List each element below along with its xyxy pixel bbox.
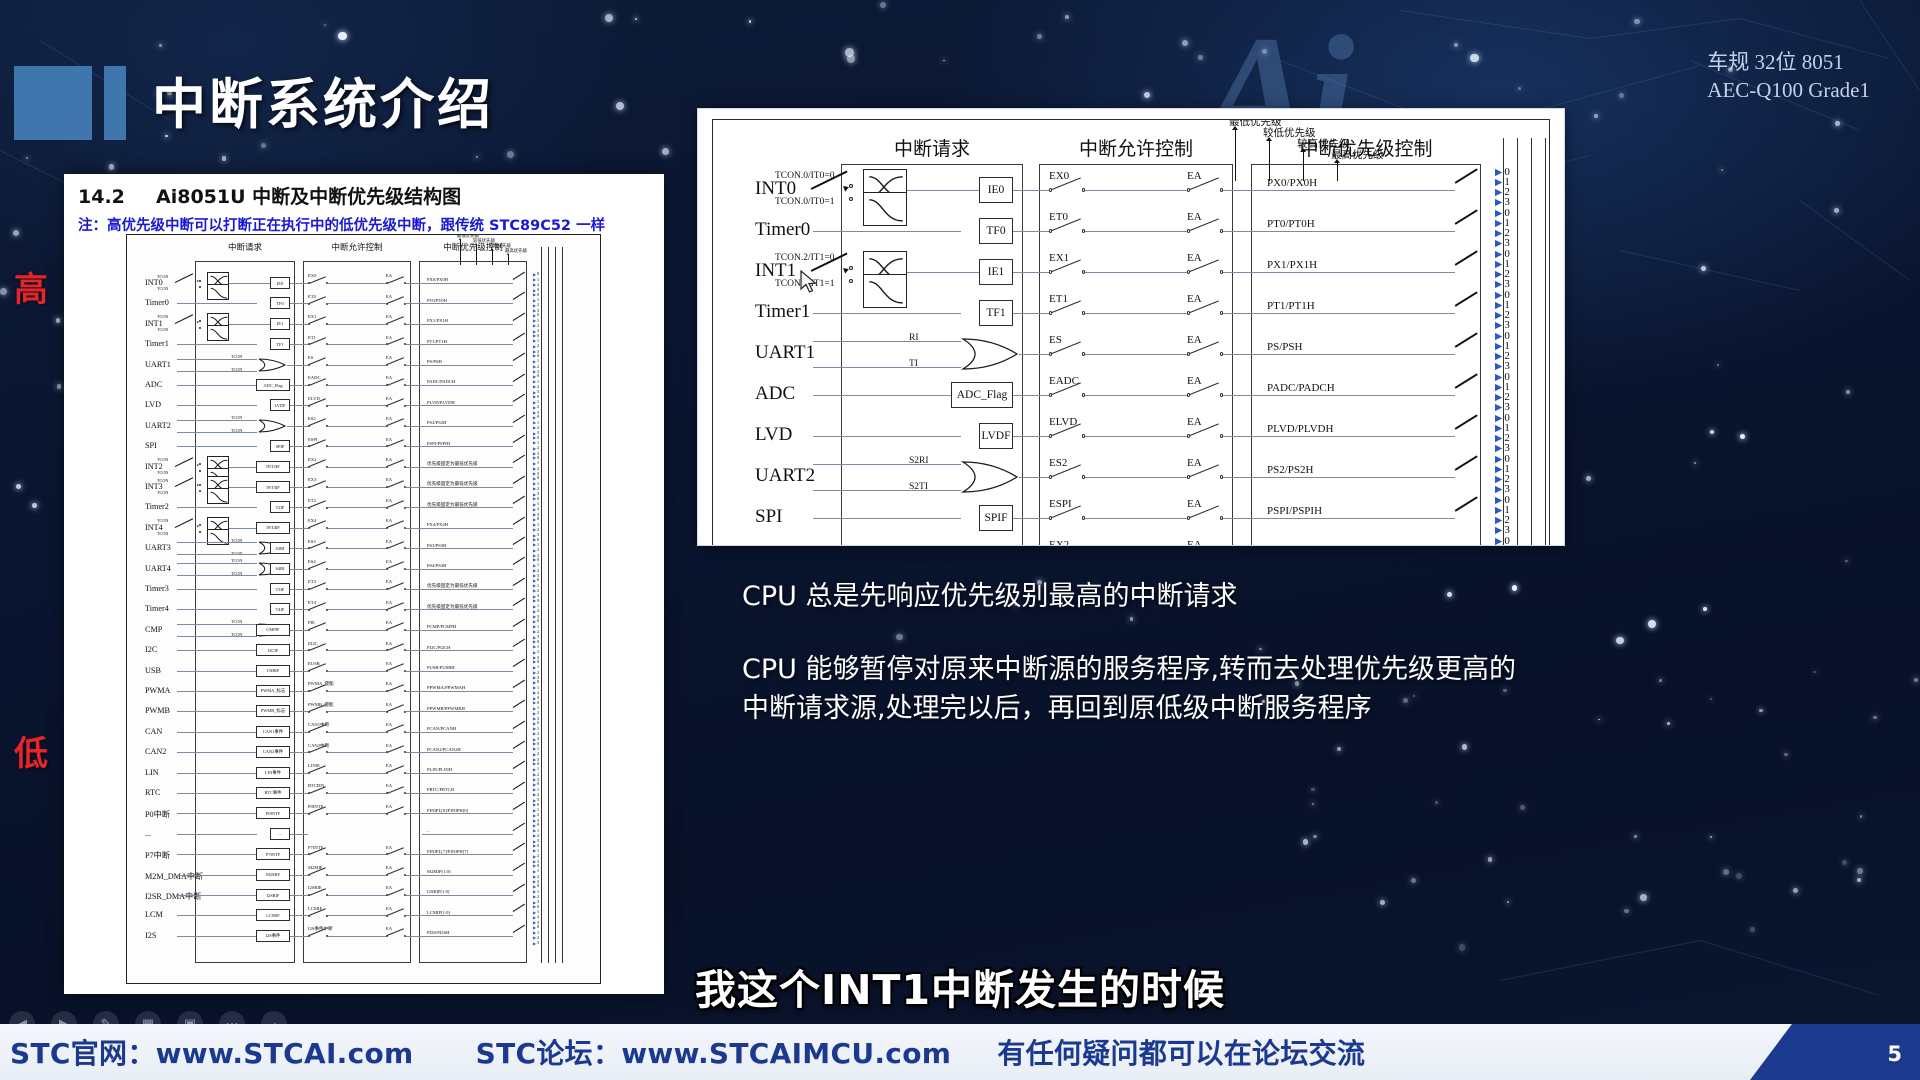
enable-switch-label-31: I2SRIE xyxy=(308,885,322,890)
falling-edge-symbol-3 xyxy=(863,274,907,308)
mux-level-label-30-2: 1 xyxy=(537,868,539,873)
enable-chain-wire-1 xyxy=(328,283,386,284)
column-title-1: 中断请求 xyxy=(894,134,970,161)
mux-level-label-1-2: 1 xyxy=(537,277,539,282)
mux-arrow-8-1: ▶ xyxy=(533,415,536,420)
ea-switch-4[interactable]: EA xyxy=(1187,305,1223,321)
decor-star xyxy=(1619,93,1624,98)
priority-wire-32 xyxy=(422,915,513,916)
enable-switch-3[interactable]: EX1 xyxy=(308,319,328,328)
flag-box-9: SPIF xyxy=(979,505,1013,531)
flag-output-wire-7 xyxy=(290,405,308,406)
flag-box-19: I2CIF xyxy=(256,644,290,656)
brand-line-2: AEC-Q100 Grade1 xyxy=(1707,76,1870,104)
source-label-7: LVD xyxy=(755,424,792,446)
ea-switch-11[interactable]: EA xyxy=(386,483,406,492)
priority-wire-16 xyxy=(422,589,513,590)
ea-switch-2[interactable]: EA xyxy=(386,299,406,308)
mux-arrow-24-1: ▶ xyxy=(533,741,536,746)
enable-switch-label-1: EX0 xyxy=(1049,170,1069,182)
source-wire-29 xyxy=(177,854,257,855)
ea-switch-label-27: EA xyxy=(386,804,392,809)
enable-switch-label-3: EX1 xyxy=(1049,252,1069,264)
decor-star xyxy=(1873,716,1876,719)
ea-switch-30[interactable]: EA xyxy=(386,870,406,879)
enable-switch-5[interactable]: ES xyxy=(308,360,328,369)
enable-switch-6[interactable]: EADC xyxy=(1049,387,1085,403)
decor-star xyxy=(1710,836,1712,838)
mux-level-label-4-1: 0 xyxy=(537,333,539,338)
ea-switch-32[interactable]: EA xyxy=(386,911,406,920)
flag-box-24: CAN2事件 xyxy=(256,746,290,758)
mux-level-label-31-1: 0 xyxy=(537,883,539,888)
ea-switch-13[interactable]: EA xyxy=(386,523,406,532)
mux-level-label-5-2: 1 xyxy=(537,358,539,363)
enable-chain-wire-19 xyxy=(328,650,386,651)
decor-star xyxy=(0,288,7,295)
ea-switch-7[interactable]: EA xyxy=(1187,428,1223,444)
ea-switch-29[interactable]: EA xyxy=(386,850,406,859)
selector-node-high-3 xyxy=(849,266,853,270)
enable-switch-label-17: ET4 xyxy=(308,600,316,605)
video-subtitle: 我这个INT1中断发生的时候 xyxy=(0,956,1920,1016)
enable-to-priority-wire-23 xyxy=(406,732,422,733)
ea-switch-7[interactable]: EA xyxy=(386,401,406,410)
ea-switch-5[interactable]: EA xyxy=(1187,346,1223,362)
mux-arrow-15-3: ▶ xyxy=(533,568,536,573)
enable-switch-4[interactable]: ET1 xyxy=(1049,305,1085,321)
decor-line xyxy=(1590,18,1740,39)
condition-label-low-1: TCON xyxy=(157,286,168,291)
ea-switch-2[interactable]: EA xyxy=(1187,223,1223,239)
ea-switch-1[interactable]: EA xyxy=(386,279,406,288)
mux-arrow-9-4: ▶ xyxy=(1495,525,1502,536)
decor-star xyxy=(1857,878,1861,882)
flag-box-31: I2SRIF xyxy=(256,889,290,901)
enable-to-priority-wire-32 xyxy=(406,915,422,916)
priority-bit-label-4: PT1/PT1H xyxy=(1267,300,1315,312)
ea-switch-label-6: EA xyxy=(1187,375,1202,387)
enable-switch-19[interactable]: EI2C xyxy=(308,646,328,655)
falling-edge-symbol-1 xyxy=(207,284,229,300)
enable-switch-10[interactable]: EX2 xyxy=(308,462,328,471)
ea-switch-9[interactable]: EA xyxy=(1187,510,1223,526)
enable-switch-5[interactable]: ES xyxy=(1049,346,1085,362)
enable-switch-29[interactable]: P7INTE xyxy=(308,850,328,859)
mux-arrow-10-1: ▶ xyxy=(533,455,536,460)
ea-switch-24[interactable]: EA xyxy=(386,748,406,757)
ea-switch-33[interactable]: EA xyxy=(386,931,406,940)
mux-arrow-6-3: ▶ xyxy=(533,384,536,389)
priority-rail-2 xyxy=(1517,138,1518,546)
ea-switch-1[interactable]: EA xyxy=(1187,182,1223,198)
flag-box-11: INT3IF xyxy=(256,481,290,493)
flag-box-4: TF1 xyxy=(270,338,290,350)
flag-output-wire-20 xyxy=(290,671,308,672)
source-wire-30 xyxy=(177,875,257,876)
ea-switch-6[interactable]: EA xyxy=(1187,387,1223,403)
mux-level-label-33-3: 2 xyxy=(537,935,539,940)
or-input-wire-a-5 xyxy=(813,341,961,342)
source-wire-24 xyxy=(177,752,257,753)
source-wire-32 xyxy=(177,915,257,916)
mux-level-label-18-1: 0 xyxy=(537,618,539,623)
enable-switch-31[interactable]: I2SRIE xyxy=(308,891,328,900)
enable-to-priority-wire-20 xyxy=(406,671,422,672)
decor-star xyxy=(1842,860,1847,865)
enable-to-priority-wire-6 xyxy=(406,385,422,386)
ea-switch-label-32: EA xyxy=(386,906,392,911)
mux-level-label-17-3: 2 xyxy=(537,608,539,613)
decor-star xyxy=(1736,873,1742,879)
enable-switch-9[interactable]: ESPI xyxy=(308,442,328,451)
mux-level-label-15-1: 0 xyxy=(537,557,539,562)
enable-switch-label-14: ES3 xyxy=(308,539,316,544)
mux-arrow-12-1: ▶ xyxy=(533,496,536,501)
enable-switch-label-13: EX4 xyxy=(308,518,316,523)
flag-output-wire-21 xyxy=(290,691,308,692)
mux-level-label-22-3: 2 xyxy=(537,710,539,715)
flag-output-wire-28 xyxy=(290,834,308,835)
enable-switch-32[interactable]: LCMIE xyxy=(308,911,328,920)
ea-switch-label-8: EA xyxy=(1187,457,1202,469)
flag-input-wire-3 xyxy=(907,272,979,273)
flag-input-wire-13 xyxy=(229,528,256,529)
priority-bit-label-8: PS2/PS2H xyxy=(1267,464,1313,476)
enable-chain-wire-2 xyxy=(1085,231,1187,232)
flag-output-wire-3 xyxy=(290,324,308,325)
mux-level-label-29-3: 2 xyxy=(537,853,539,858)
decor-star xyxy=(1759,709,1762,712)
decor-star xyxy=(1813,671,1815,673)
priority-wire-31 xyxy=(422,895,513,896)
priority-bit-label-26: PRTC/PRTCH xyxy=(427,787,454,792)
mux-level-label-4-2: 1 xyxy=(537,338,539,343)
enable-switch-label-4: ET1 xyxy=(308,335,316,340)
priority-wire-11 xyxy=(422,487,513,488)
mux-arrow-8-4: ▶ xyxy=(1495,484,1502,495)
mux-arrow-11-3: ▶ xyxy=(533,486,536,491)
enable-switch-11[interactable]: EX3 xyxy=(308,483,328,492)
enable-switch-4[interactable]: ET1 xyxy=(308,340,328,349)
mux-arrow-20-1: ▶ xyxy=(533,659,536,664)
flag-output-wire-24 xyxy=(290,752,308,753)
footer-text: STC官网：www.STCAI.com STC论坛：www.STCAIMCU.c… xyxy=(10,1032,1365,1072)
priority-bit-label-23: PCAN/PCANH xyxy=(427,726,456,731)
source-label-4: Timer1 xyxy=(755,301,810,323)
enable-chain-wire-30 xyxy=(328,875,386,876)
mux-arrow-16-1: ▶ xyxy=(533,578,536,583)
ea-switch-9[interactable]: EA xyxy=(386,442,406,451)
enable-switch-24[interactable]: CAN2中断 xyxy=(308,748,328,757)
decor-star xyxy=(32,503,37,508)
ea-switch-16[interactable]: EA xyxy=(386,585,406,594)
decor-star xyxy=(1710,430,1714,434)
mux-level-label-3-3: 2 xyxy=(537,323,539,328)
enable-chain-wire-7 xyxy=(328,405,386,406)
ea-switch-3[interactable]: EA xyxy=(386,319,406,328)
source-label-2: Timer0 xyxy=(755,219,810,241)
or-gate-5 xyxy=(257,357,287,373)
flag-box-12: T2IF xyxy=(270,501,290,513)
enable-switch-6[interactable]: EADC xyxy=(308,381,328,390)
mux-arrow-1-3: ▶ xyxy=(533,282,536,287)
enable-switch-13[interactable]: EX4 xyxy=(308,523,328,532)
enable-switch-16[interactable]: ET3 xyxy=(308,585,328,594)
mux-level-label-22-1: 0 xyxy=(537,700,539,705)
mux-level-label-31-3: 2 xyxy=(537,894,539,899)
enable-switch-18[interactable]: PIE xyxy=(308,625,328,634)
ea-switch-5[interactable]: EA xyxy=(386,360,406,369)
flag-output-wire-2 xyxy=(1013,231,1049,232)
source-label-16: Timer3 xyxy=(145,584,169,593)
enable-switch-label-25: LINIE xyxy=(308,763,320,768)
mux-arrow-17-2: ▶ xyxy=(533,604,536,609)
flag-input-wire-11 xyxy=(229,487,256,488)
or-input-wire-b-18 xyxy=(177,636,257,637)
ea-switch-label-2: EA xyxy=(1187,211,1202,223)
ea-switch-18[interactable]: EA xyxy=(386,625,406,634)
or-input-wire-a-15 xyxy=(177,563,257,564)
mux-level-label-7-1: 0 xyxy=(537,394,539,399)
flag-output-wire-17 xyxy=(290,609,308,610)
flag-box-2: TF0 xyxy=(270,297,290,309)
body-text-block: CPU 总是先响应优先级别最高的中断请求 CPU 能够暂停对原来中断源的服务程序… xyxy=(742,578,1752,729)
priority-arrowhead-1 xyxy=(1232,126,1238,130)
right-document-panel: 中断请求中断允许控制中断优先级控制最低优先级较低优先级较高优先级最高优先级INT… xyxy=(697,108,1565,546)
or-gate-8 xyxy=(257,418,287,434)
priority-bit-label-25: PLIN/PLINH xyxy=(427,767,452,772)
enable-switch-2[interactable]: ET0 xyxy=(308,299,328,308)
enable-switch-14[interactable]: ES3 xyxy=(308,544,328,553)
enable-switch-7[interactable]: ELVD xyxy=(1049,428,1085,444)
ea-switch-4[interactable]: EA xyxy=(386,340,406,349)
enable-switch-20[interactable]: EUSB xyxy=(308,666,328,675)
or-input-wire-b-5 xyxy=(813,367,961,368)
source-label-12: Timer2 xyxy=(145,502,169,511)
ea-switch-8[interactable]: EA xyxy=(386,421,406,430)
mux-level-label-6-3: 2 xyxy=(537,384,539,389)
flag-input-wire-10 xyxy=(229,467,256,468)
enable-switch-label-16: ET3 xyxy=(308,579,316,584)
ea-switch-14[interactable]: EA xyxy=(386,544,406,553)
enable-switch-7[interactable]: ELVD xyxy=(308,401,328,410)
flag-box-28: ... xyxy=(270,828,290,840)
source-label-5: UART1 xyxy=(145,360,171,369)
enable-switch-27[interactable]: P0INTE xyxy=(308,809,328,818)
ea-switch-15[interactable]: EA xyxy=(386,564,406,573)
mux-level-label-24-3: 2 xyxy=(537,751,539,756)
enable-switch-1[interactable]: EX0 xyxy=(1049,182,1085,198)
ea-switch-26[interactable]: EA xyxy=(386,789,406,798)
flag-box-33: I2S事件 xyxy=(256,930,290,942)
decor-star xyxy=(56,318,61,323)
enable-switch-33[interactable]: I2S事件中断 xyxy=(308,931,328,940)
or-input-wire-b-8 xyxy=(813,490,961,491)
enable-to-priority-wire-31 xyxy=(406,895,422,896)
ea-switch-20[interactable]: EA xyxy=(386,666,406,675)
or-to-enable-wire-8 xyxy=(295,426,308,427)
enable-to-priority-wire-13 xyxy=(406,528,422,529)
priority-wire-12 xyxy=(422,507,513,508)
decor-star xyxy=(338,32,346,40)
mux-arrow-24-3: ▶ xyxy=(533,752,536,757)
mux-arrow-25-2: ▶ xyxy=(533,767,536,772)
enable-switch-12[interactable]: ET2 xyxy=(308,503,328,512)
enable-chain-wire-6 xyxy=(1085,395,1187,396)
mux-arrow-26-1: ▶ xyxy=(533,782,536,787)
flag-output-wire-2 xyxy=(290,303,308,304)
priority-wire-9 xyxy=(1257,518,1455,519)
enable-switch-26[interactable]: RTCIEN xyxy=(308,789,328,798)
enable-switch-8[interactable]: ES2 xyxy=(308,421,328,430)
mux-level-label-6-1: 0 xyxy=(537,373,539,378)
source-wire-12 xyxy=(177,507,257,508)
flag-output-wire-31 xyxy=(290,895,308,896)
mux-level-label-15-3: 2 xyxy=(537,568,539,573)
enable-to-priority-wire-8 xyxy=(406,426,422,427)
priority-bit-label-8: PS2/PS2H xyxy=(427,420,446,425)
enable-chain-wire-21 xyxy=(328,691,386,692)
mux-level-label-8-1: 0 xyxy=(537,414,539,419)
selector-node-high-1 xyxy=(849,184,853,188)
trigger-selector-arrowhead-10 xyxy=(196,463,199,466)
mux-arrow-7-2: ▶ xyxy=(533,400,536,405)
priority-arrowhead-3 xyxy=(1300,148,1306,152)
enable-switch-3[interactable]: EX1 xyxy=(1049,264,1085,280)
mux-level-label-16-3: 2 xyxy=(537,588,539,593)
enable-switch-23[interactable]: CAN1中断 xyxy=(308,727,328,736)
enable-switch-21[interactable]: PWMA_使能 xyxy=(308,687,328,696)
mux-arrow-20-3: ▶ xyxy=(533,670,536,675)
mux-arrow-5-4: ▶ xyxy=(1495,361,1502,372)
ea-switch-22[interactable]: EA xyxy=(386,707,406,716)
flag-box-20: USBIF xyxy=(256,665,290,677)
flag-box-13: INT4IF xyxy=(256,522,290,534)
ea-switch-31[interactable]: EA xyxy=(386,891,406,900)
source-label-5: UART1 xyxy=(755,342,815,364)
decor-star xyxy=(1182,40,1188,46)
priority-rail-4 xyxy=(1545,138,1546,546)
enable-switch-label-6: EADC xyxy=(1049,375,1079,387)
enable-switch-label-8: ES2 xyxy=(308,416,316,421)
enable-to-priority-wire-7 xyxy=(406,405,422,406)
ea-switch-8[interactable]: EA xyxy=(1187,469,1223,485)
ea-switch-label-25: EA xyxy=(386,763,392,768)
mux-level-label-33-1: 0 xyxy=(537,924,539,929)
mux-level-label-28-3: 2 xyxy=(537,833,539,838)
ea-switch-21[interactable]: EA xyxy=(386,687,406,696)
priority-rail-3 xyxy=(1531,138,1532,546)
ea-switch-label-20: EA xyxy=(386,661,392,666)
enable-to-priority-wire-6 xyxy=(1223,395,1257,396)
flag-box-22: PWMB_标志 xyxy=(256,705,290,717)
enable-chain-wire-11 xyxy=(328,487,386,488)
decor-star xyxy=(880,2,886,8)
priority-high-marker: 高 xyxy=(14,262,48,311)
priority-wire-24 xyxy=(422,752,513,753)
mux-level-label-30-3: 2 xyxy=(537,874,539,879)
priority-arrow-4 xyxy=(1337,160,1338,181)
priority-bit-label-7: PLVD/PLVDH xyxy=(427,400,455,405)
enable-switch-label-8: ES2 xyxy=(1049,457,1067,469)
source-wire-23 xyxy=(177,732,257,733)
ea-switch-label-21: EA xyxy=(386,681,392,686)
enable-chain-wire-15 xyxy=(328,569,386,570)
priority-arrowhead-2 xyxy=(1266,137,1272,141)
priority-bit-label-15: PS4/PS4H xyxy=(427,563,446,568)
decor-star xyxy=(1845,560,1848,563)
priority-wire-29 xyxy=(422,854,513,855)
flag-output-wire-27 xyxy=(290,813,308,814)
enable-to-priority-wire-1 xyxy=(1223,190,1257,191)
priority-wire-19 xyxy=(422,650,513,651)
flag-output-wire-11 xyxy=(290,487,308,488)
mux-arrow-8-2: ▶ xyxy=(533,420,536,425)
enable-to-priority-wire-8 xyxy=(1223,477,1257,478)
mux-arrow-33-4: ▶ xyxy=(533,941,536,946)
ea-switch-10[interactable]: EA xyxy=(386,462,406,471)
mux-level-label-18-2: 1 xyxy=(537,624,539,629)
mux-level-label-32-1: 0 xyxy=(537,904,539,909)
brand-tagline: 车规 32位 8051 AEC-Q100 Grade1 xyxy=(1707,48,1870,105)
source-label-8: UART2 xyxy=(755,465,815,487)
enable-switch-9[interactable]: ESPI xyxy=(1049,510,1085,526)
ea-switch-3[interactable]: EA xyxy=(1187,264,1223,280)
mux-arrow-25-3: ▶ xyxy=(533,772,536,777)
ea-switch-17[interactable]: EA xyxy=(386,605,406,614)
source-label-14: UART3 xyxy=(145,543,171,552)
mux-level-label-18-3: 2 xyxy=(537,629,539,634)
mux-arrow-14-2: ▶ xyxy=(533,542,536,547)
mux-arrow-28-3: ▶ xyxy=(533,833,536,838)
enable-switch-17[interactable]: ET4 xyxy=(308,605,328,614)
enable-switch-label-12: ET2 xyxy=(308,498,316,503)
mux-arrow-25-1: ▶ xyxy=(533,761,536,766)
enable-switch-25[interactable]: LINIE xyxy=(308,768,328,777)
decor-star xyxy=(1380,900,1385,905)
priority-arrow-3 xyxy=(492,249,493,265)
source-wire-7 xyxy=(177,405,257,406)
ea-switch-19[interactable]: EA xyxy=(386,646,406,655)
enable-switch-30[interactable]: M2MIE xyxy=(308,870,328,879)
ea-switch-6[interactable]: EA xyxy=(386,381,406,390)
ea-switch-23[interactable]: EA xyxy=(386,727,406,736)
ea-switch-label-7: EA xyxy=(1187,416,1202,428)
source-label-27: P0中断 xyxy=(145,808,170,820)
enable-switch-8[interactable]: ES2 xyxy=(1049,469,1085,485)
decor-star xyxy=(1717,364,1719,366)
enable-switch-1[interactable]: EX0 xyxy=(308,279,328,288)
or-gate-8 xyxy=(961,460,1019,494)
ea-switch-label-5: EA xyxy=(1187,334,1202,346)
mux-arrow-32-2: ▶ xyxy=(533,910,536,915)
ea-switch-27[interactable]: EA xyxy=(386,809,406,818)
enable-chain-wire-7 xyxy=(1085,436,1187,437)
enable-chain-wire-2 xyxy=(328,303,386,304)
priority-bit-label-3: PX1/PX1H xyxy=(427,318,448,323)
ea-switch-25[interactable]: EA xyxy=(386,768,406,777)
decor-star xyxy=(1834,208,1839,213)
or-output-wire-8 xyxy=(287,426,295,427)
ea-switch-12[interactable]: EA xyxy=(386,503,406,512)
mux-level-label-3-2: 1 xyxy=(537,318,539,323)
or-to-enable-wire-5 xyxy=(1023,354,1049,355)
enable-switch-22[interactable]: PWMB_使能 xyxy=(308,707,328,716)
enable-switch-15[interactable]: ES4 xyxy=(308,564,328,573)
flag-output-wire-26 xyxy=(290,793,308,794)
enable-switch-2[interactable]: ET0 xyxy=(1049,223,1085,239)
